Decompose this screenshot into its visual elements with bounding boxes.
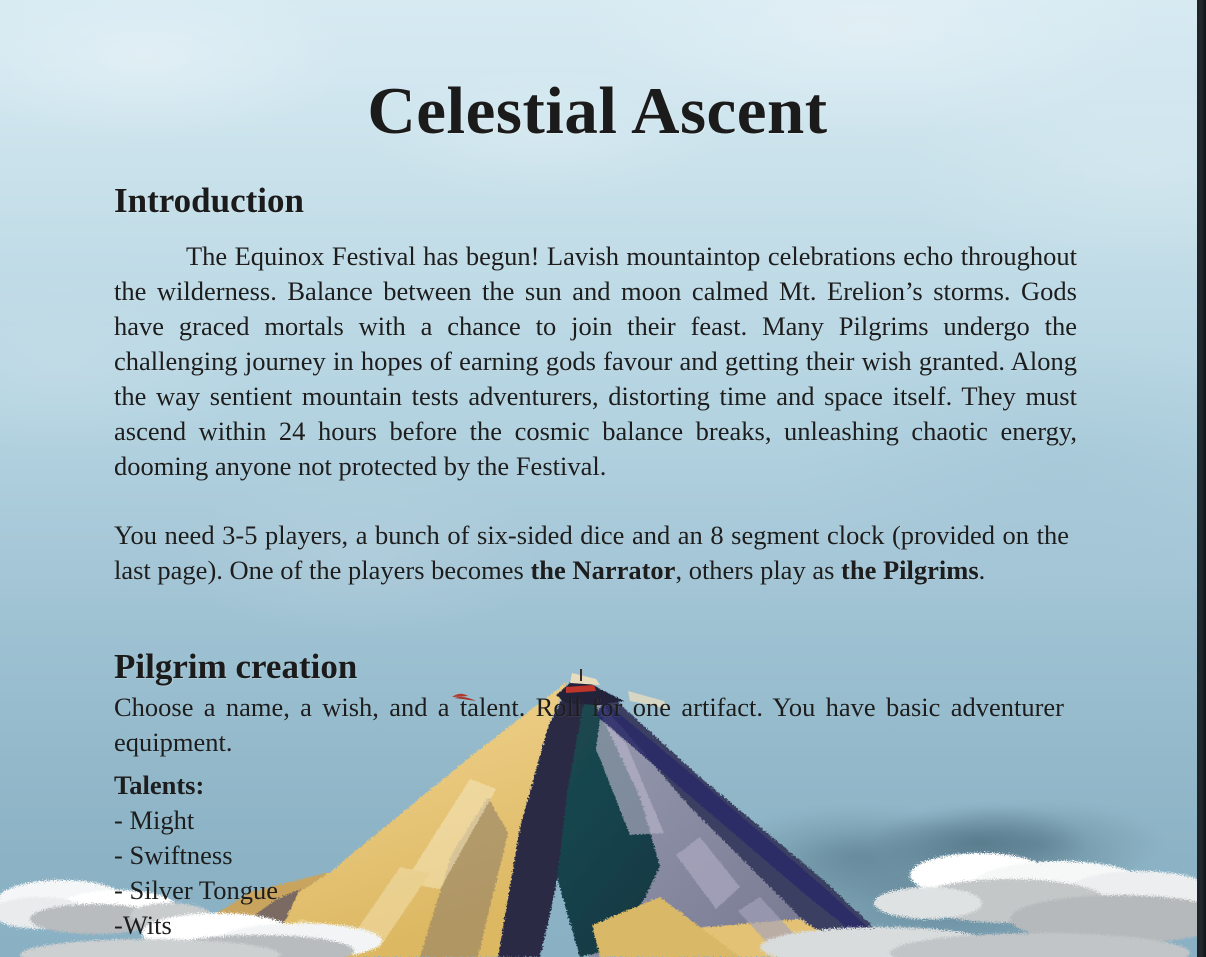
- page-title: Celestial Ascent: [0, 73, 1195, 150]
- mountain-gold-shade-band: [420, 797, 508, 957]
- page-canvas: Celestial Ascent Introduction The Equino…: [0, 0, 1206, 957]
- talent-item-silver-tongue: - Silver Tongue: [114, 873, 278, 908]
- mountain-highlights: [268, 779, 496, 957]
- page-right-border: [1197, 0, 1206, 957]
- heading-introduction: Introduction: [114, 181, 304, 221]
- mountain-gold-foreground-mid: [592, 897, 740, 957]
- mountain-gold-foreground-right: [648, 919, 860, 957]
- setup-bold-narrator: the Narrator: [530, 555, 675, 585]
- talent-item-wits: -Wits: [114, 908, 278, 943]
- setup-bold-pilgrims: the Pilgrims: [841, 555, 979, 585]
- paragraph-pilgrim-creation: Choose a name, a wish, and a talent. Rol…: [114, 690, 1064, 760]
- setup-text-part2: , others play as: [675, 555, 841, 585]
- summit-snow: [570, 673, 600, 685]
- talents-list: Talents: - Might - Swiftness - Silver To…: [114, 768, 278, 943]
- summit-flagpole: [580, 669, 582, 681]
- talent-item-swiftness: - Swiftness: [114, 838, 278, 873]
- heading-pilgrim-creation: Pilgrim creation: [114, 647, 357, 687]
- cloud-bank-right: [874, 853, 1206, 943]
- talent-item-might: - Might: [114, 803, 278, 838]
- paragraph-setup: You need 3-5 players, a bunch of six-sid…: [114, 518, 1069, 588]
- talents-label: Talents:: [114, 768, 278, 803]
- paragraph-introduction: The Equinox Festival has begun! Lavish m…: [114, 239, 1077, 484]
- setup-text-part3: .: [979, 555, 986, 585]
